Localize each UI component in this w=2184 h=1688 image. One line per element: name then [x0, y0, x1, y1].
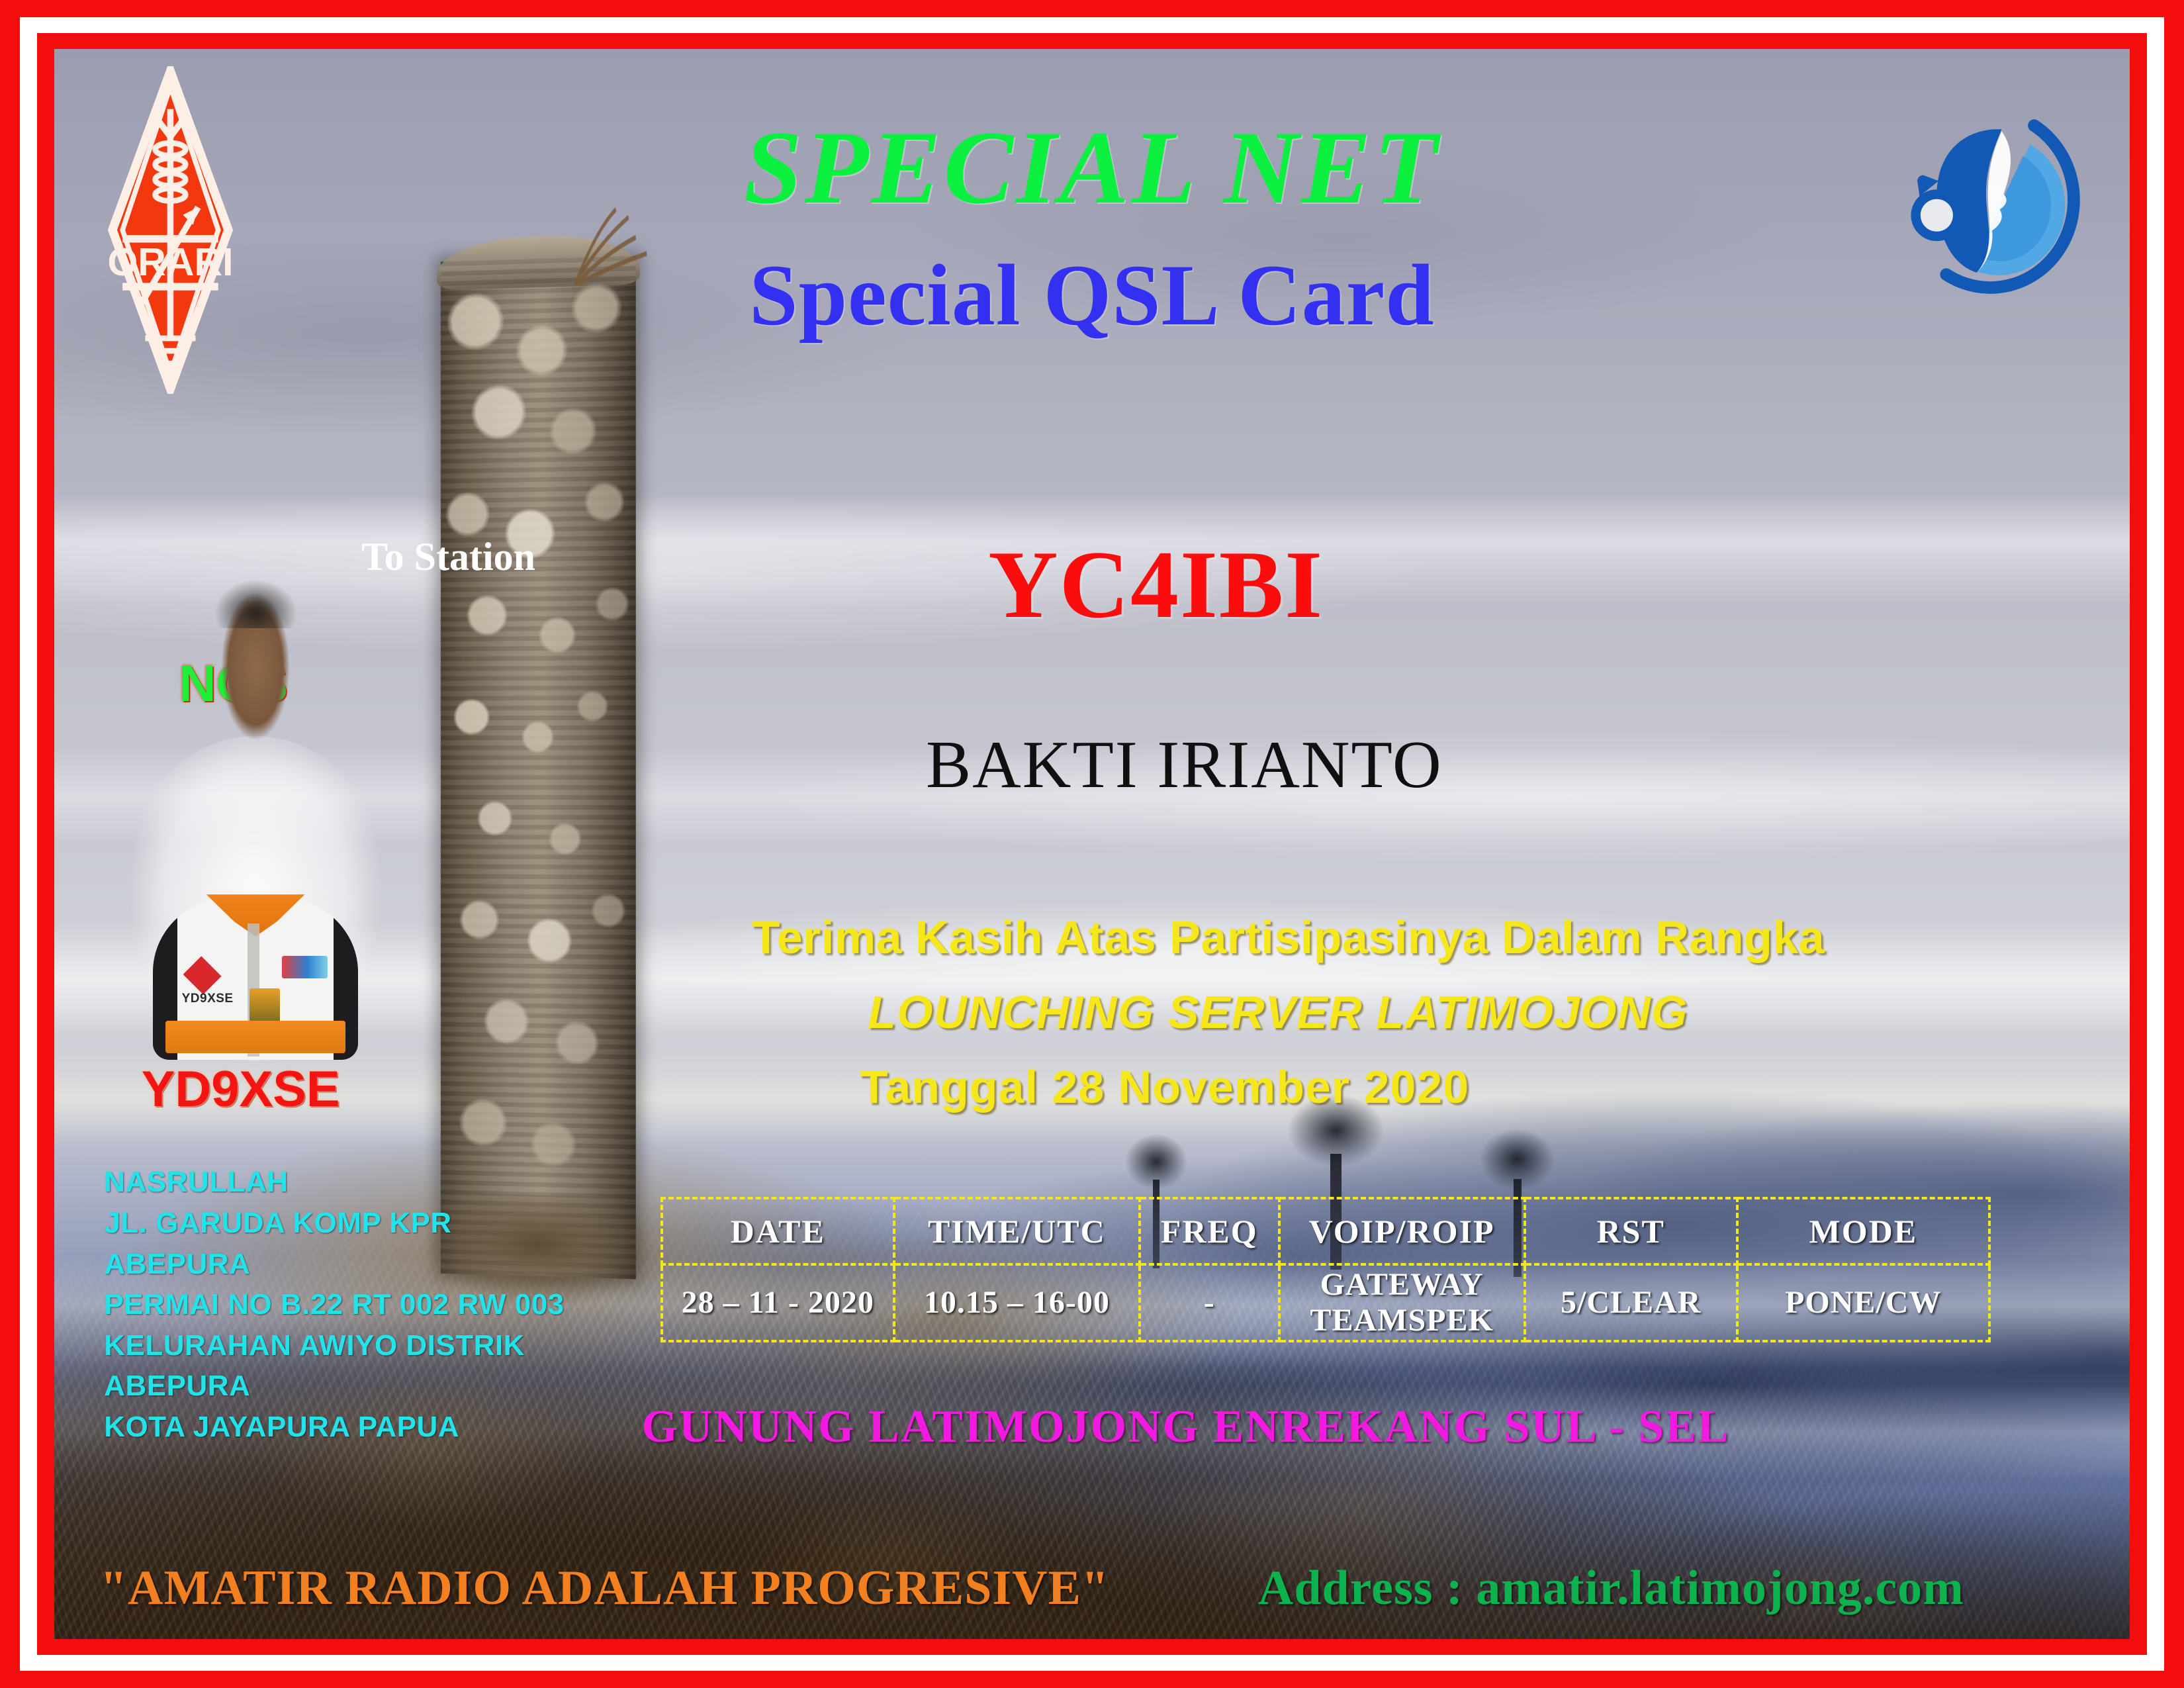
column-header-mode: MODE: [1737, 1198, 1989, 1264]
column-header-freq: FREQ: [1140, 1198, 1279, 1264]
thanks-line-3: Tanggal 28 November 2020: [860, 1060, 1469, 1113]
uniform-team-patch: [282, 956, 327, 978]
address-line: PERMAI NO B.22 RT 002 RW 003: [104, 1284, 564, 1325]
portrait-uniform: YD9XSE: [153, 898, 358, 1059]
address-line: JL. GARUDA KOMP KPR: [104, 1203, 564, 1244]
address-line: ABEPURA: [104, 1366, 564, 1407]
qsl-card: ORARI: [0, 0, 2184, 1688]
column-header-voip: VOIP/ROIP: [1279, 1198, 1525, 1264]
page-title: SPECIAL NET: [54, 108, 2130, 228]
address-line: KELURAHAN AWIYO DISTRIK: [104, 1325, 564, 1366]
ncs-operator-portrait: YD9XSE: [120, 736, 390, 1073]
uniform-callsign-text: YD9XSE: [182, 992, 234, 1006]
column-header-time: TIME/UTC: [894, 1198, 1140, 1264]
table-row: 28 – 11 - 2020 10.15 – 16-00 - GATEWAY T…: [662, 1264, 1989, 1341]
to-station-label: To Station: [361, 534, 535, 580]
address-line: KOTA JAYAPURA PAPUA: [104, 1407, 564, 1448]
card-content-overlay: ORARI: [54, 49, 2130, 1639]
location-text: GUNUNG LATIMOJONG ENREKANG SUL - SEL: [641, 1401, 1729, 1454]
address-line: NASRULLAH: [104, 1162, 564, 1203]
card-background-photo: ORARI: [54, 49, 2130, 1639]
uniform-belt: [165, 1021, 346, 1053]
table-header-row: DATE TIME/UTC FREQ VOIP/ROIP RST MODE: [662, 1198, 1989, 1264]
uniform-orari-patch: [183, 956, 221, 994]
qso-log-table: DATE TIME/UTC FREQ VOIP/ROIP RST MODE 28…: [660, 1197, 1991, 1342]
cell-mode: PONE/CW: [1737, 1264, 1989, 1341]
page-subtitle: Special QSL Card: [54, 244, 2130, 346]
station-callsign: YC4IBI: [988, 529, 1324, 640]
ncs-callsign: YD9XSE: [142, 1060, 340, 1118]
motto-text: "AMATIR RADIO ADALAH PROGRESIVE": [100, 1560, 1109, 1617]
column-header-date: DATE: [662, 1198, 894, 1264]
cell-voip-line2: TEAMSPEK: [1310, 1303, 1493, 1338]
web-address-text: Address : amatir.latimojong.com: [1258, 1560, 1964, 1617]
cell-voip-line1: GATEWAY: [1320, 1267, 1484, 1302]
portrait-hair: [202, 554, 310, 628]
ncs-address-block: NASRULLAH JL. GARUDA KOMP KPR ABEPURA PE…: [104, 1162, 564, 1447]
thanks-line-1: Terima Kasih Atas Partisipasinya Dalam R…: [752, 911, 1825, 964]
cell-voip: GATEWAY TEAMSPEK: [1279, 1264, 1525, 1341]
operator-name: BAKTI IRIANTO: [926, 726, 1443, 804]
cell-rst: 5/CLEAR: [1525, 1264, 1737, 1341]
cell-date: 28 – 11 - 2020: [662, 1264, 894, 1341]
column-header-rst: RST: [1525, 1198, 1737, 1264]
thanks-line-2: LOUNCHING SERVER LATIMOJONG: [868, 986, 1688, 1039]
address-line: ABEPURA: [104, 1244, 564, 1285]
cell-freq: -: [1140, 1264, 1279, 1341]
uniform-id-badge: [250, 988, 280, 1024]
cell-time: 10.15 – 16-00: [894, 1264, 1140, 1341]
